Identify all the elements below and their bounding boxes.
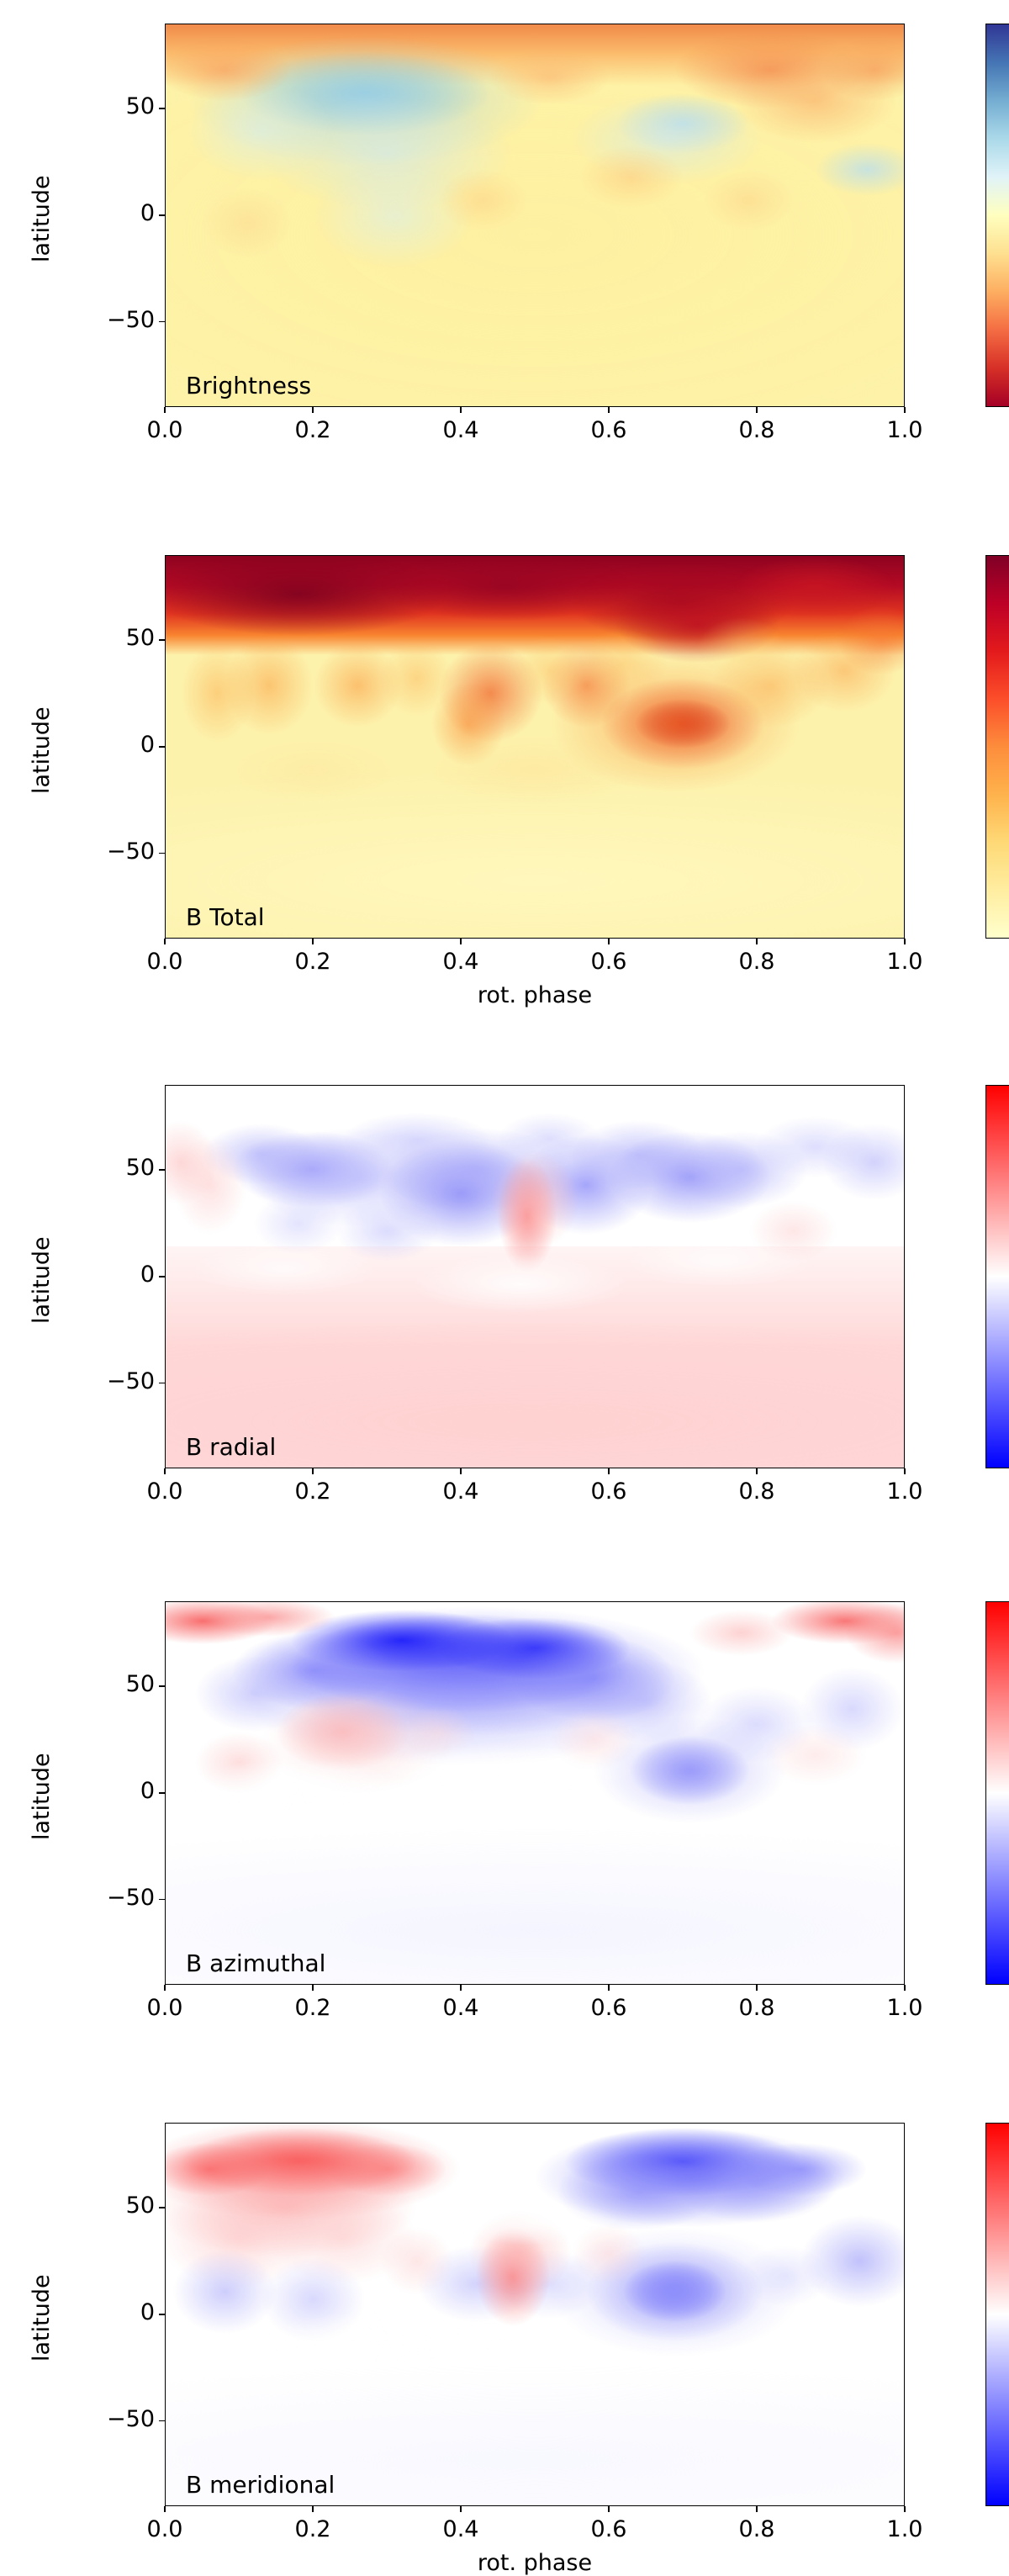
colorbar-gradient-5	[986, 2124, 1009, 2505]
x-tickmark	[312, 2506, 314, 2512]
map-feature	[328, 2143, 446, 2197]
map-feature	[734, 2143, 867, 2197]
map-feature	[380, 2227, 454, 2296]
panel-5: B meridional500−50latitude0.00.20.40.60.…	[0, 0, 1009, 2396]
map-feature	[742, 2245, 830, 2307]
map-feature	[446, 2200, 624, 2245]
heatmap-image-5	[166, 2124, 904, 2505]
x-tick-label: 0.8	[719, 2516, 795, 2542]
map-axes-5: B meridional	[165, 2123, 905, 2506]
colorbar-5	[985, 2123, 1009, 2506]
y-tick-label: −50	[107, 2406, 155, 2432]
x-tick-label: 0.4	[423, 2516, 499, 2542]
x-tick-label: 0.6	[571, 2516, 647, 2542]
figure-root: Brightness500−50latitude0.00.20.40.60.81…	[0, 0, 1009, 2396]
x-tickmark	[608, 2506, 610, 2512]
x-tickmark	[756, 2506, 758, 2512]
x-tickmark	[460, 2506, 462, 2512]
y-axis-label-5: latitude	[29, 2274, 55, 2362]
map-feature	[173, 2250, 277, 2334]
map-feature	[254, 2310, 520, 2364]
x-tickmark	[904, 2506, 906, 2512]
y-tick-label: 50	[126, 2193, 155, 2219]
x-tick-label: 1.0	[867, 2516, 943, 2542]
x-tick-label: 0.2	[275, 2516, 351, 2542]
panel-label-5: B meridional	[186, 2471, 335, 2499]
y-tickmark	[159, 2314, 165, 2315]
x-tick-label: 0.0	[127, 2516, 203, 2542]
x-axis-label-5: rot. phase	[451, 2550, 619, 2576]
y-tickmark	[159, 2207, 165, 2208]
x-tickmark	[164, 2506, 166, 2512]
y-tick-label: 0	[140, 2299, 155, 2325]
y-tickmark	[159, 2420, 165, 2422]
